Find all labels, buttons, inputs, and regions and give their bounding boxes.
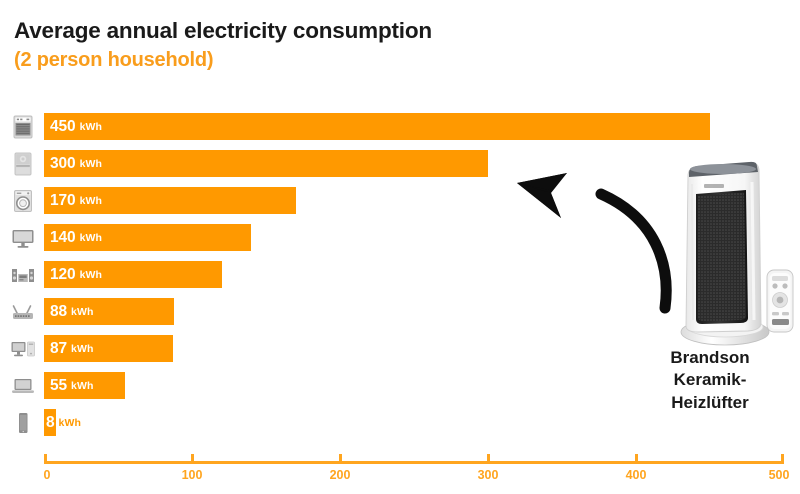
axis-tick	[781, 454, 784, 464]
smartphone-icon	[8, 408, 38, 437]
dishwasher-icon	[8, 149, 38, 178]
router-icon	[8, 297, 38, 326]
product-caption-line-3: Heizlüfter	[620, 392, 800, 414]
laptop-icon	[8, 371, 38, 400]
axis-tick-label: 200	[330, 468, 351, 482]
x-axis: 0 100 200 300 400 500	[0, 452, 800, 494]
axis-tick-label: 300	[478, 468, 499, 482]
bar-television	[44, 224, 251, 251]
washing-machine-icon	[8, 186, 38, 215]
stereo-system-icon	[8, 260, 38, 289]
title-block: Average annual electricity consumption (…	[14, 18, 614, 72]
bar-router	[44, 298, 174, 325]
axis-tick	[191, 454, 194, 464]
axis-tick-label: 400	[626, 468, 647, 482]
axis-tick	[635, 454, 638, 464]
product-image-ceramic-tower-heater	[662, 160, 800, 350]
product-caption: Brandson Keramik- Heizlüfter	[620, 347, 800, 414]
bar-laptop	[44, 372, 125, 399]
axis-tick-label: 0	[44, 468, 51, 482]
product-caption-line-1: Brandson	[620, 347, 800, 369]
desktop-computer-icon	[8, 334, 38, 363]
page-subtitle: (2 person household)	[14, 48, 614, 72]
bar-desktop-computer	[44, 335, 173, 362]
curved-arrow-icon	[505, 160, 680, 315]
bar-stereo-system	[44, 261, 222, 288]
axis-line	[44, 461, 783, 464]
axis-tick-label: 100	[182, 468, 203, 482]
oven-icon	[8, 112, 38, 141]
page-title: Average annual electricity consumption	[14, 18, 614, 45]
axis-tick	[44, 454, 47, 464]
axis-tick	[487, 454, 490, 464]
bar-washing-machine	[44, 187, 296, 214]
axis-tick	[339, 454, 342, 464]
bar-smartphone	[44, 409, 56, 436]
bar-dishwasher	[44, 150, 488, 177]
television-icon	[8, 223, 38, 252]
bar-oven	[44, 113, 710, 140]
product-caption-line-2: Keramik-	[620, 369, 800, 391]
bar-row: 450 kWh	[0, 112, 800, 142]
axis-tick-label: 500	[769, 468, 790, 482]
